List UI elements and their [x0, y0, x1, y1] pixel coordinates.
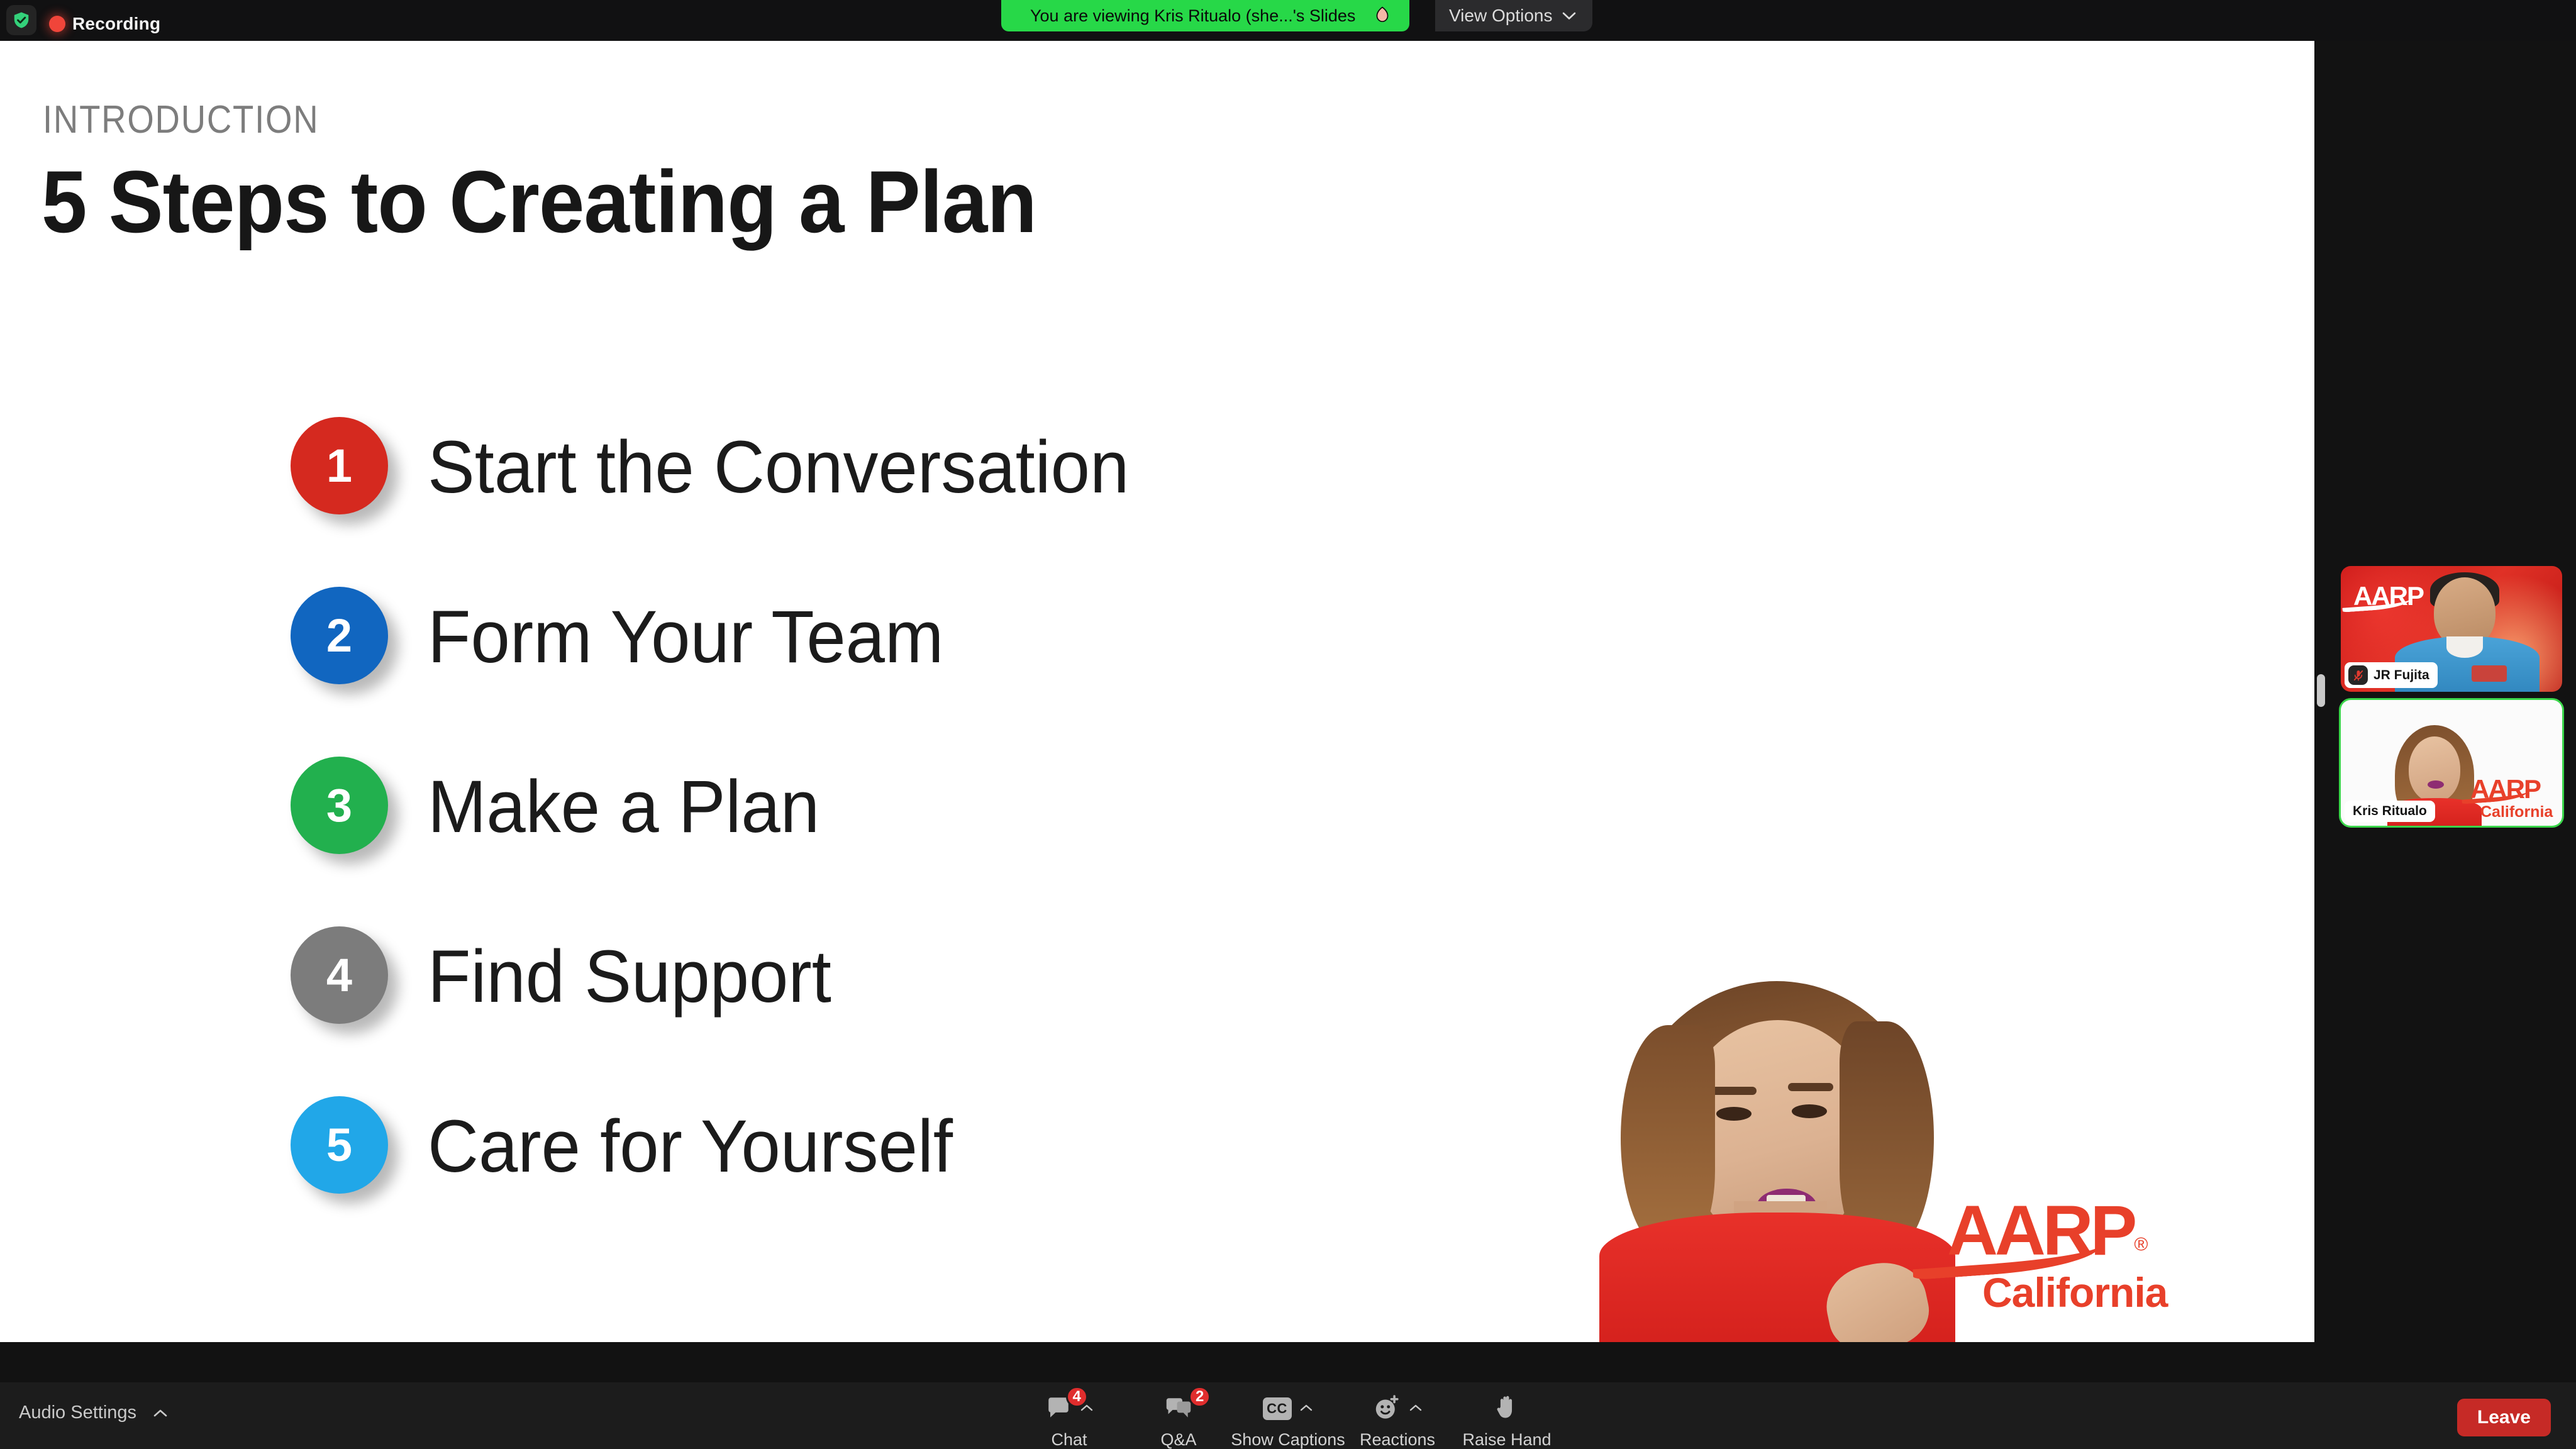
- meeting-top-bar: Recording You are viewing Kris Ritualo (…: [0, 0, 2576, 41]
- closed-caption-icon: CC: [1263, 1397, 1292, 1420]
- raise-hand-label: Raise Hand: [1462, 1430, 1551, 1449]
- chat-label: Chat: [1051, 1430, 1087, 1449]
- viewing-slides-text: You are viewing Kris Ritualo (she...'s S…: [1030, 6, 1355, 26]
- slide-eyebrow: INTRODUCTION: [43, 97, 319, 142]
- viewing-slides-banner: You are viewing Kris Ritualo (she...'s S…: [1001, 0, 1409, 31]
- recording-label: Recording: [72, 14, 160, 34]
- step-label-3: Make a Plan: [428, 764, 819, 850]
- captions-caret-icon[interactable]: [1299, 1403, 1314, 1415]
- participant-name-pill: Kris Ritualo: [2345, 801, 2435, 822]
- registered-trademark-icon: ®: [2134, 1235, 2148, 1255]
- raise-hand-button[interactable]: Raise Hand: [1452, 1387, 1562, 1449]
- qa-unread-badge: 2: [1189, 1386, 1211, 1407]
- raise-hand-icon: [1494, 1394, 1520, 1424]
- chevron-up-icon[interactable]: [153, 1409, 168, 1418]
- aarp-california-logo-tile: AARP California: [2470, 774, 2553, 821]
- zoom-meeting-window: Recording You are viewing Kris Ritualo (…: [0, 0, 2576, 1449]
- step-number-badge-1: 1: [291, 417, 388, 514]
- step-number-badge-3: 3: [291, 757, 388, 854]
- participant-name: JR Fujita: [2373, 668, 2429, 683]
- participant-tile-kris-ritualo[interactable]: AARP California Kris Ritualo: [2341, 700, 2562, 826]
- participant-name-pill: JR Fujita: [2345, 662, 2438, 688]
- participant-name: Kris Ritualo: [2353, 804, 2427, 819]
- aarp-watermark-icon: AARP: [2353, 581, 2423, 611]
- chat-button[interactable]: 4 Chat: [1014, 1387, 1124, 1449]
- toolbar-center-group: 4 Chat: [1014, 1387, 1562, 1449]
- mic-muted-icon: [2348, 665, 2368, 685]
- step-label-5: Care for Yourself: [428, 1104, 953, 1189]
- reactions-smiley-icon: [1372, 1394, 1401, 1424]
- step-label-2: Form Your Team: [428, 594, 943, 680]
- aarp-region-text: California: [1982, 1269, 2268, 1316]
- show-captions-label: Show Captions: [1231, 1430, 1345, 1449]
- leave-button[interactable]: Leave: [2457, 1399, 2551, 1436]
- step-number-badge-4: 4: [291, 926, 388, 1024]
- presenter-video-overlay: [1588, 981, 1990, 1342]
- chevron-down-icon: [1562, 12, 1576, 20]
- step-number-badge-5: 5: [291, 1096, 388, 1194]
- chat-unread-badge: 4: [1066, 1386, 1088, 1407]
- reactions-caret-icon[interactable]: [1408, 1403, 1423, 1415]
- shared-screen-slide[interactable]: INTRODUCTION 5 Steps to Creating a Plan …: [0, 41, 2314, 1342]
- show-captions-button[interactable]: CC Show Captions: [1233, 1387, 1343, 1449]
- reactions-button[interactable]: Reactions: [1343, 1387, 1452, 1449]
- slide-title: 5 Steps to Creating a Plan: [42, 151, 1036, 253]
- step-number-badge-2: 2: [291, 587, 388, 684]
- view-options-label: View Options: [1449, 6, 1552, 26]
- qa-label: Q&A: [1160, 1430, 1196, 1449]
- recording-indicator-dot: [49, 16, 65, 32]
- share-divider-drag-handle[interactable]: [2317, 674, 2325, 707]
- meeting-controls-toolbar: Audio Settings 4: [0, 1382, 2576, 1449]
- reactions-label: Reactions: [1360, 1430, 1435, 1449]
- aarp-california-logo: AARP® California: [1947, 1198, 2268, 1316]
- qa-button[interactable]: 2 Q&A: [1124, 1387, 1233, 1449]
- view-options-button[interactable]: View Options: [1435, 0, 1592, 31]
- encryption-shield-icon[interactable]: [6, 5, 36, 35]
- step-label-1: Start the Conversation: [428, 425, 1129, 510]
- step-label-4: Find Support: [428, 934, 831, 1019]
- audio-settings-label: Audio Settings: [19, 1402, 136, 1423]
- participant-tile-jr-fujita[interactable]: AARP JR Fujita: [2341, 566, 2562, 692]
- audio-settings-button[interactable]: Audio Settings: [19, 1402, 168, 1423]
- participant-filmstrip: AARP JR Fujita: [2341, 566, 2562, 834]
- leaf-icon: [1372, 5, 1393, 26]
